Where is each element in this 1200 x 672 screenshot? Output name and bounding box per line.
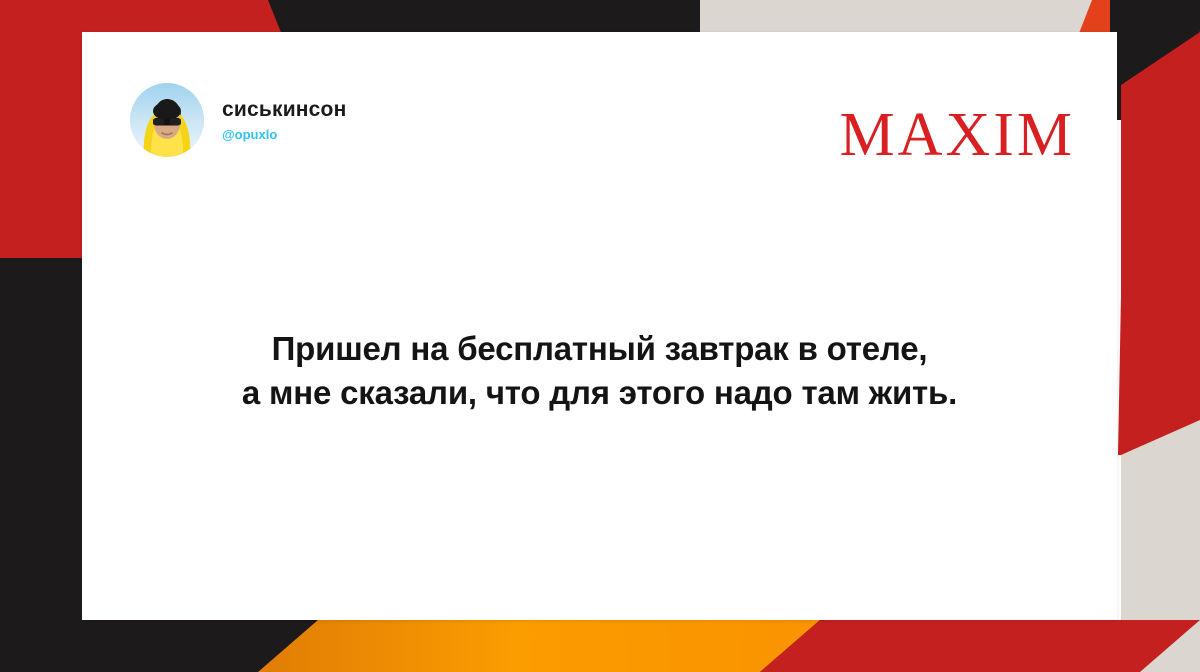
screenshot-root: сиськинсон @opuxlo MAXIM Пришел на беспл… [0, 0, 1200, 672]
card-header: сиськинсон @opuxlo MAXIM [82, 32, 1117, 182]
joke-line-2: а мне сказали, что для этого надо там жи… [122, 371, 1077, 415]
avatar[interactable] [130, 83, 204, 157]
joke-text-block: Пришел на бесплатный завтрак в отеле, а … [82, 327, 1117, 414]
handle[interactable]: @opuxlo [222, 128, 346, 142]
quote-card: сиськинсон @opuxlo MAXIM Пришел на беспл… [82, 32, 1117, 620]
bg-shape-red-right-body [1121, 32, 1200, 455]
bg-shape-red-bottom [760, 620, 1200, 672]
display-name: сиськинсон [222, 98, 346, 121]
joke-line-1: Пришел на бесплатный завтрак в отеле, [122, 327, 1077, 371]
bg-shape-orange-bottom [258, 620, 820, 672]
profile-block: сиськинсон @opuxlo [130, 83, 346, 157]
maxim-logo: MAXIM [840, 104, 1075, 166]
identity-block: сиськинсон @opuxlo [222, 98, 346, 142]
avatar-person-yellow-hood-sunglasses-icon [130, 83, 204, 157]
